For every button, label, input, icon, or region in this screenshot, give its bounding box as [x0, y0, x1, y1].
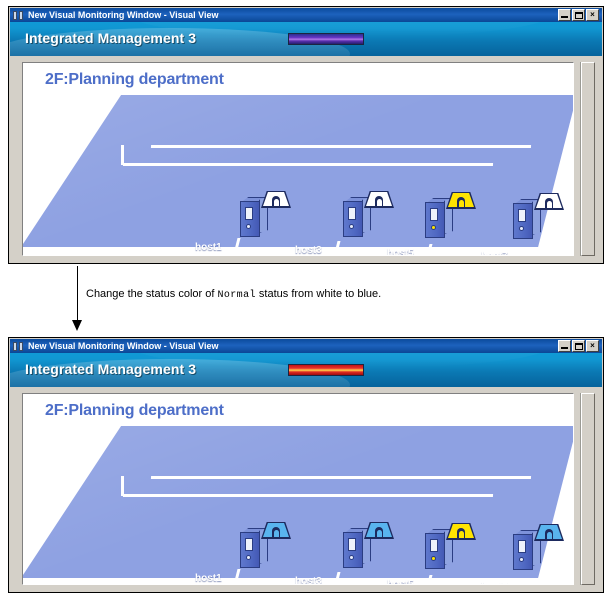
host-label-host1: host1 — [195, 573, 222, 584]
step-caption: Change the status color of Normal status… — [86, 288, 381, 301]
window-title: New Visual Monitoring Window - Visual Vi… — [28, 341, 218, 351]
flow-arrow-line — [77, 266, 78, 324]
page-title: 2F:Planning department — [45, 402, 224, 420]
caption-part2: status from white to blue. — [256, 288, 381, 300]
monitoring-window-after: New Visual Monitoring Window - Visual Vi… — [8, 337, 604, 593]
server-led-icon — [349, 224, 354, 229]
host-node-host1[interactable] — [238, 191, 290, 239]
server-led-icon — [246, 224, 251, 229]
page-title: 2F:Planning department — [45, 71, 224, 89]
host-node-host3[interactable] — [341, 191, 393, 239]
server-led-icon — [349, 555, 354, 560]
client-area: 2F:Planning department Business server 2… — [13, 390, 599, 588]
window-controls: × — [558, 9, 600, 21]
server-led-icon — [519, 557, 524, 562]
close-button[interactable]: × — [586, 340, 599, 352]
host-node-host7[interactable] — [511, 524, 563, 572]
app-icon — [13, 341, 25, 352]
host-label-host3: host3 — [295, 576, 322, 584]
host-node-host7[interactable] — [511, 193, 563, 241]
floor-map — [23, 95, 573, 247]
host-node-host1[interactable] — [238, 522, 290, 570]
app-banner: Integrated Management 3 — [10, 353, 602, 387]
host-label-host3: host3 — [295, 245, 322, 255]
host-node-host5[interactable] — [423, 192, 475, 240]
network-trunk — [121, 145, 124, 165]
server-led-icon — [246, 555, 251, 560]
banner-title: Integrated Management 3 — [25, 30, 196, 46]
network-spur — [521, 247, 527, 255]
host-node-host5[interactable] — [423, 523, 475, 571]
server-bay — [245, 538, 253, 551]
app-icon — [13, 10, 25, 21]
network-bus-upper — [151, 145, 531, 148]
status-badge — [288, 33, 364, 45]
status-arch-icon — [457, 197, 465, 207]
host-label-host1: host1 — [195, 242, 222, 253]
server-led-icon — [431, 556, 436, 561]
window-controls: × — [558, 340, 600, 352]
screenshot-root: New Visual Monitoring Window - Visual Vi… — [0, 0, 611, 599]
app-banner: Integrated Management 3 — [10, 22, 602, 56]
status-arch-icon — [457, 528, 465, 538]
vertical-scrollbar[interactable] — [580, 393, 595, 585]
status-arch-icon — [272, 196, 280, 206]
host-label-host5: host5 — [387, 248, 414, 255]
status-arch-icon — [272, 527, 280, 537]
network-bus-upper — [151, 476, 531, 479]
host-label-host7: host7 — [481, 251, 508, 255]
host-label-host7: host7 — [481, 582, 508, 584]
server-bay — [348, 207, 356, 220]
server-led-icon — [519, 226, 524, 231]
network-bus-lower — [123, 494, 493, 497]
host-node-host3[interactable] — [341, 522, 393, 570]
status-indicator-normal — [261, 522, 291, 539]
scrollbar-thumb[interactable] — [581, 62, 595, 256]
status-indicator-normal — [364, 522, 394, 539]
status-indicator-warning — [446, 192, 476, 209]
window-title: New Visual Monitoring Window - Visual Vi… — [28, 10, 218, 20]
network-spur — [521, 578, 527, 584]
minimize-button[interactable] — [558, 9, 571, 21]
title-bar[interactable]: New Visual Monitoring Window - Visual Vi… — [10, 339, 602, 353]
server-bay — [518, 540, 526, 553]
network-trunk — [121, 476, 124, 496]
status-indicator-normal — [261, 191, 291, 208]
server-bay — [245, 207, 253, 220]
status-indicator-normal — [534, 193, 564, 210]
restore-button[interactable] — [572, 340, 585, 352]
flow-arrow-head — [72, 320, 82, 331]
caption-part1: Change the status color of — [86, 288, 217, 300]
host-label-host5: host5 — [387, 579, 414, 584]
caption-status-name: Normal — [217, 290, 255, 301]
banner-title: Integrated Management 3 — [25, 361, 196, 377]
monitoring-window-before: New Visual Monitoring Window - Visual Vi… — [8, 6, 604, 264]
status-indicator-normal — [364, 191, 394, 208]
minimize-button[interactable] — [558, 340, 571, 352]
client-area: 2F:Planning department Business server 2… — [13, 59, 599, 259]
server-bay — [348, 538, 356, 551]
status-arch-icon — [375, 527, 383, 537]
view-canvas: 2F:Planning department Business server 2… — [22, 62, 574, 256]
close-button[interactable]: × — [586, 9, 599, 21]
map-sheen — [23, 95, 573, 247]
view-canvas: 2F:Planning department Business server 2… — [22, 393, 574, 585]
floor-map-area: Business server 2 host1host2host3host4ho… — [23, 95, 573, 255]
status-arch-icon — [545, 198, 553, 208]
vertical-scrollbar[interactable] — [580, 62, 595, 256]
restore-button[interactable] — [572, 9, 585, 21]
status-badge — [288, 364, 364, 376]
server-led-icon — [431, 225, 436, 230]
status-indicator-normal — [534, 524, 564, 541]
map-sheen — [23, 426, 573, 578]
scrollbar-thumb[interactable] — [581, 393, 595, 585]
title-bar[interactable]: New Visual Monitoring Window - Visual Vi… — [10, 8, 602, 22]
status-indicator-warning — [446, 523, 476, 540]
floor-map — [23, 426, 573, 578]
server-bay — [430, 539, 438, 552]
status-arch-icon — [375, 196, 383, 206]
server-bay — [518, 209, 526, 222]
server-bay — [430, 208, 438, 221]
floor-map-area: Business server 2 host1host2host3host4ho… — [23, 426, 573, 584]
network-bus-lower — [123, 163, 493, 166]
status-arch-icon — [545, 529, 553, 539]
